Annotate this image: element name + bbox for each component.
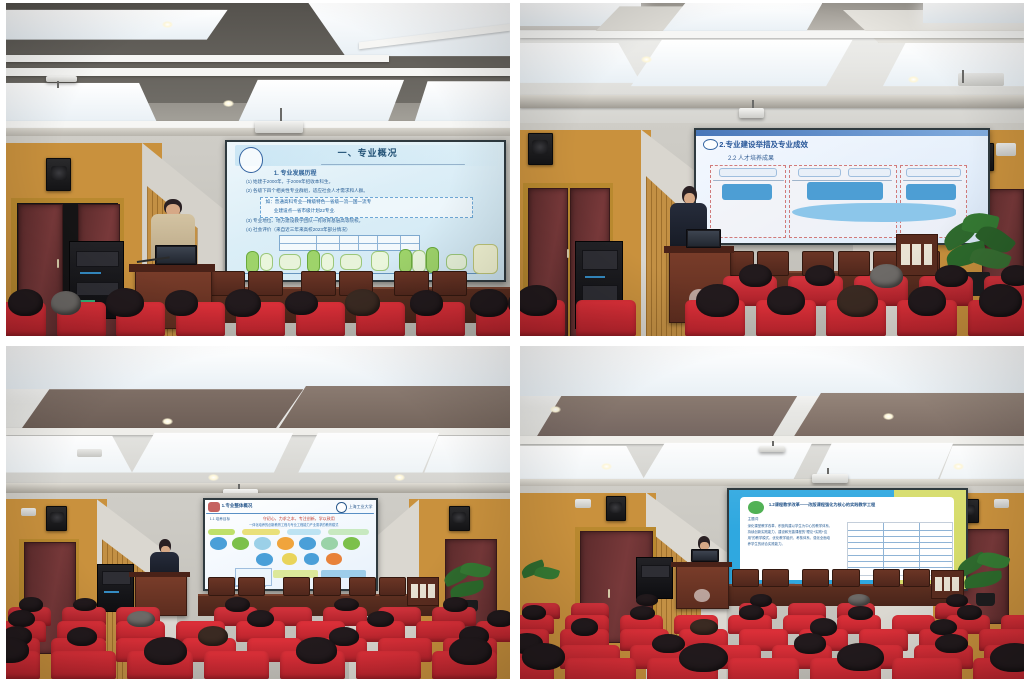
equipment-rack-4 — [636, 557, 673, 599]
seat[interactable] — [576, 300, 636, 336]
slide-flow-node-3f — [321, 537, 338, 550]
stage-chair-4c — [802, 569, 829, 588]
slide-flow-node-3j — [304, 553, 319, 565]
slide-bullet-1-2: (3) 专业地位、地方建设教学团队一有效育基层高等院校。 — [246, 218, 363, 224]
slide-flow-node-3d — [277, 537, 294, 550]
wall-vent-4-right — [994, 499, 1009, 508]
ceiling-light-panel-4b — [520, 446, 646, 483]
audience-row-4-front — [520, 646, 1024, 679]
stage-chair-4e — [873, 569, 900, 588]
slide-university-logo-1 — [239, 147, 263, 172]
projection-screen-frame-1: 一、专业概况 1. 专业发展历程 (1) 始建于2000年，于2009年招收本科… — [225, 140, 506, 282]
audience-head — [225, 289, 260, 317]
slide-flow-node-3k — [326, 553, 341, 565]
stage-chair-3a — [208, 577, 235, 596]
wall-speaker-3-right — [449, 506, 470, 531]
downlight-3a — [162, 418, 173, 425]
timeline-pill-8 — [399, 249, 412, 273]
slide-diagram-chip-2d — [906, 168, 961, 177]
timeline-pill-3 — [279, 254, 300, 270]
ceiling-light-panel-4e — [938, 446, 1024, 483]
slide-flow-node-3c — [254, 537, 271, 550]
ceiling-light-panel-3c — [132, 433, 293, 473]
slide-table-1 — [279, 235, 420, 251]
audience-head — [979, 284, 1023, 317]
audience-head — [296, 637, 337, 663]
wall-speaker-1 — [46, 158, 71, 192]
audience-head — [630, 606, 654, 620]
audience-head — [51, 291, 81, 314]
slide-diagram-block-2b — [807, 182, 883, 200]
timeline-pill-9 — [412, 250, 425, 273]
ceiling-light-panel-3a — [6, 346, 510, 389]
slide-section-1: 1. 专业发展历程 — [274, 168, 317, 177]
stage-chair-4a — [732, 569, 759, 588]
ceiling-light-panel-3e — [424, 436, 510, 473]
ceiling-light-panel-2c — [923, 3, 1024, 23]
slide-header-rule-3 — [206, 513, 374, 514]
audience-head — [690, 619, 717, 635]
audience-head — [225, 597, 249, 612]
wall-speaker-4-left — [606, 496, 626, 521]
ceiling-ac-2 — [958, 73, 1003, 86]
slide-title-1: 一、专业概况 — [338, 146, 398, 159]
audience-head — [334, 598, 358, 612]
photo-panel-top-right: 2.专业建设举措及专业成效 2.2 人才培养成果 — [520, 3, 1024, 336]
photo-panel-bottom-right: 1.2课程教学改革——改版课程强化为核心的实践教学工程 主题词 深化课堂教学改革… — [520, 346, 1024, 679]
slide-flow-node-3h — [256, 553, 273, 566]
ceiling-light-panel-2e — [631, 40, 853, 87]
audience-head — [522, 643, 566, 670]
projector-1 — [255, 121, 303, 132]
slide-flow-band-3a — [208, 529, 235, 535]
laptop-2 — [686, 229, 721, 248]
audience-head — [571, 618, 598, 635]
seat[interactable] — [204, 651, 269, 679]
slide-title-3: 1.专业整体概况 — [222, 503, 253, 509]
slide-flow-band-3c — [287, 529, 321, 535]
slide-desc-3: 一体化培养的创新教育工程与专业工程能力产业需求的教育模式 — [249, 522, 338, 527]
door-handle-1[interactable] — [57, 259, 59, 268]
ac-duct-2 — [962, 70, 964, 83]
podium-top-3 — [129, 572, 189, 577]
stage-chair-3e — [349, 577, 376, 596]
audience-head — [449, 637, 493, 665]
audience-head — [837, 285, 878, 317]
slide-section-2: 2.2 人才培养成果 — [728, 153, 774, 162]
projector-arm-1 — [57, 81, 59, 88]
projector-2 — [739, 108, 764, 118]
slide-body-4: 深化课堂教学改革，积极构建以学生为中心的教学体系，持续创新实践能力，建设和完善课… — [748, 524, 833, 548]
timeline-pill-4 — [307, 250, 320, 273]
audience-head — [930, 619, 957, 635]
audience-head — [127, 611, 154, 627]
stage-chair-3f — [379, 577, 406, 596]
lecture-hall-scene-3: 1.专业整体概况 上海工业大学 1.1 培养目标 守初心，力求之本，专注创新，学… — [6, 346, 510, 679]
ceiling-coffer-3b — [278, 386, 510, 429]
audience-head — [285, 291, 318, 315]
slide-flow-node-3e — [299, 537, 316, 550]
ceiling-light-panel-4a — [520, 346, 1024, 396]
slide-1: 一、专业概况 1. 专业发展历程 (1) 始建于2000年，于2009年招收本科… — [227, 142, 504, 280]
ceiling-trim-1b — [6, 68, 510, 76]
slide-diagram-block-2a — [722, 184, 772, 200]
downlight-1b — [223, 100, 234, 107]
audience-head — [443, 597, 467, 612]
downlight-3b — [208, 474, 219, 481]
slide-flow-band-3b — [242, 529, 280, 535]
audience-head — [410, 290, 443, 315]
podium-top-1 — [129, 264, 215, 271]
seat[interactable] — [356, 651, 421, 679]
slide-flow-node-3a — [210, 537, 227, 550]
audience-head — [520, 285, 557, 316]
audience-head — [739, 605, 763, 620]
timeline-pill-5 — [321, 253, 334, 272]
ceiling-trim-1a — [6, 55, 389, 62]
slide-diagram-block-2c — [906, 184, 956, 200]
audience-head — [522, 605, 546, 620]
slide-callout-line-1b: 业建设点—省市级计划22专业. — [274, 208, 336, 214]
audience-head — [848, 606, 872, 620]
audience-head — [870, 264, 903, 288]
ceiling-coffer-4b — [792, 393, 1024, 440]
seat[interactable] — [728, 658, 799, 679]
slide-diagram-wave-2 — [792, 203, 956, 221]
audience-head — [1001, 265, 1024, 286]
slide-section-4: 主题词 — [748, 517, 759, 522]
timeline-pill-7 — [371, 251, 390, 271]
stage-chair-3b — [238, 577, 265, 596]
downlight-4b — [883, 413, 894, 420]
wall-vent-3 — [21, 508, 36, 517]
ceiling-light-panel-1e — [414, 81, 510, 123]
seat[interactable] — [565, 658, 636, 679]
laptop-1 — [155, 245, 197, 265]
slide-section-3: 1.1 培养目标 — [210, 517, 230, 522]
slide-bullet-1-1: (2) 各级下四个相关性专业群组，适应社会人才需求和人群。 — [246, 188, 368, 194]
ceiling-fixture-4 — [759, 446, 784, 452]
projector-4 — [812, 474, 847, 483]
stage-chair-4f — [903, 569, 930, 588]
audience-head — [636, 594, 658, 606]
projector-ceiling-mount-1 — [46, 76, 76, 82]
ceiling-light-panel-3d — [298, 433, 439, 473]
ceiling-light-panel-1a — [6, 10, 228, 40]
ceiling-light-panel-1c — [6, 83, 157, 123]
slide-diagram-rule-2b — [792, 180, 891, 181]
audience-head — [908, 286, 946, 316]
slide-diagram-rule-2c — [903, 180, 961, 181]
photo-panel-top-left: 一、专业概况 1. 专业发展历程 (1) 始建于2000年，于2009年招收本科… — [6, 3, 510, 336]
wall-vent-4-left — [575, 499, 590, 508]
slide-diagram-chip-2a — [719, 168, 777, 177]
audience-head — [767, 286, 805, 315]
slide-title-4: 1.2课程教学改革——改版课程强化为核心的实践教学工程 — [769, 502, 949, 508]
slide-title-2: 2.专业建设举措及专业成效 — [719, 139, 808, 150]
timeline-pill-2 — [260, 253, 273, 272]
audience-head — [837, 643, 883, 671]
audience-head — [144, 637, 188, 665]
seat[interactable] — [51, 651, 116, 679]
slide-flow-node-3b — [232, 537, 249, 550]
stage-chair-3d — [313, 577, 340, 596]
slide-top-band-2 — [696, 130, 988, 136]
lecture-hall-scene-1: 一、专业概况 1. 专业发展历程 (1) 始建于2000年，于2009年招收本科… — [6, 3, 510, 336]
timeline-pill-12 — [473, 244, 497, 274]
ceiling-coffer-4a — [535, 396, 797, 439]
slide-callout-line-1a: 如：普通高科专业—精级特色—省级一流—国一流专 — [266, 199, 372, 205]
timeline-pill-11 — [446, 254, 467, 270]
wall-vent-2 — [996, 143, 1016, 156]
slide-bullet-icon-2 — [703, 139, 718, 150]
stage-chair-4d — [832, 569, 859, 588]
timeline-pill-10 — [426, 247, 439, 272]
slide-diagram-chip-2c — [848, 168, 891, 177]
slide-bullet-1-0: (1) 始建于2000年，于2009年招收本科生。 — [246, 179, 333, 185]
timeline-pill-6 — [340, 254, 361, 270]
podium-top-4 — [671, 562, 731, 567]
audience-head — [367, 611, 394, 627]
audience-head — [935, 265, 968, 287]
audience-head — [470, 289, 508, 317]
audience-head — [487, 610, 510, 627]
audience-head — [8, 289, 43, 316]
plant-leaf — [533, 564, 559, 582]
slide-flow-node-3i — [282, 553, 297, 565]
audience-head — [805, 265, 835, 287]
stage-chair-4b — [762, 569, 789, 588]
ceiling-trim-2c — [520, 31, 1024, 38]
lecture-hall-scene-2: 2.专业建设举措及专业成效 2.2 人才培养成果 — [520, 3, 1024, 336]
slide-diagram-chip-2b — [798, 168, 841, 177]
audience-head — [739, 264, 772, 287]
audience-row-3-front — [6, 639, 510, 679]
downlight-4c — [601, 463, 612, 470]
slide-university-name-3: 上海工业大学 — [348, 504, 372, 510]
potted-plant-4-left — [520, 556, 565, 599]
slide-bullet-1-3: (4) 社会评价（来自近三年来高校2023年部分情况） — [246, 227, 350, 233]
slide-table-4 — [847, 522, 953, 576]
wall-speaker-3-left — [46, 506, 67, 531]
stage-chair-3c — [283, 577, 310, 596]
slide-title-tab-3 — [208, 502, 220, 512]
audience-head — [345, 289, 380, 316]
audience-head — [8, 610, 35, 627]
audience-head — [679, 643, 728, 673]
audience-head — [990, 643, 1024, 673]
audience-row-1-back — [6, 289, 510, 336]
audience-head — [106, 288, 144, 317]
audience-head — [247, 610, 274, 627]
ceiling-light-panel-4c — [641, 443, 812, 483]
downlight-4d — [953, 463, 964, 470]
slide-flow-node-3g — [343, 537, 360, 550]
slide-flow-band-3d — [328, 529, 369, 535]
beam-2 — [520, 95, 1024, 108]
photo-panel-bottom-left: 1.专业整体概况 上海工业大学 1.1 培养目标 守初心，力求之本，专注创新，学… — [6, 346, 510, 679]
timeline-pill-1 — [246, 251, 259, 272]
lecture-hall-scene-4: 1.2课程教学改革——改版课程强化为核心的实践教学工程 主题词 深化课堂教学改革… — [520, 346, 1024, 679]
seat[interactable] — [892, 658, 963, 679]
slide-university-logo-3 — [336, 502, 347, 513]
wall-speaker-2-left — [528, 133, 553, 165]
slide-diagram-rule-2a — [713, 180, 783, 181]
audience-head — [957, 605, 981, 620]
ceiling-light-panel-3b — [6, 436, 132, 473]
audience-head — [165, 290, 198, 315]
door-handle-2[interactable] — [567, 249, 569, 258]
slide-3: 1.专业整体概况 上海工业大学 1.1 培养目标 守初心，力求之本，专注创新，学… — [205, 500, 376, 590]
ceiling-light-panel-1d — [238, 80, 404, 123]
audience-row-2-front — [520, 286, 1024, 336]
laptop-4 — [691, 549, 718, 562]
ceiling-ac-3 — [77, 449, 102, 456]
slide-headline-3: 守初心，力求之本，专注创新，学以致用 — [263, 516, 335, 522]
photo-collage: 一、专业概况 1. 专业发展历程 (1) 始建于2000年，于2009年招收本科… — [0, 0, 1024, 682]
audience-head — [696, 284, 740, 317]
